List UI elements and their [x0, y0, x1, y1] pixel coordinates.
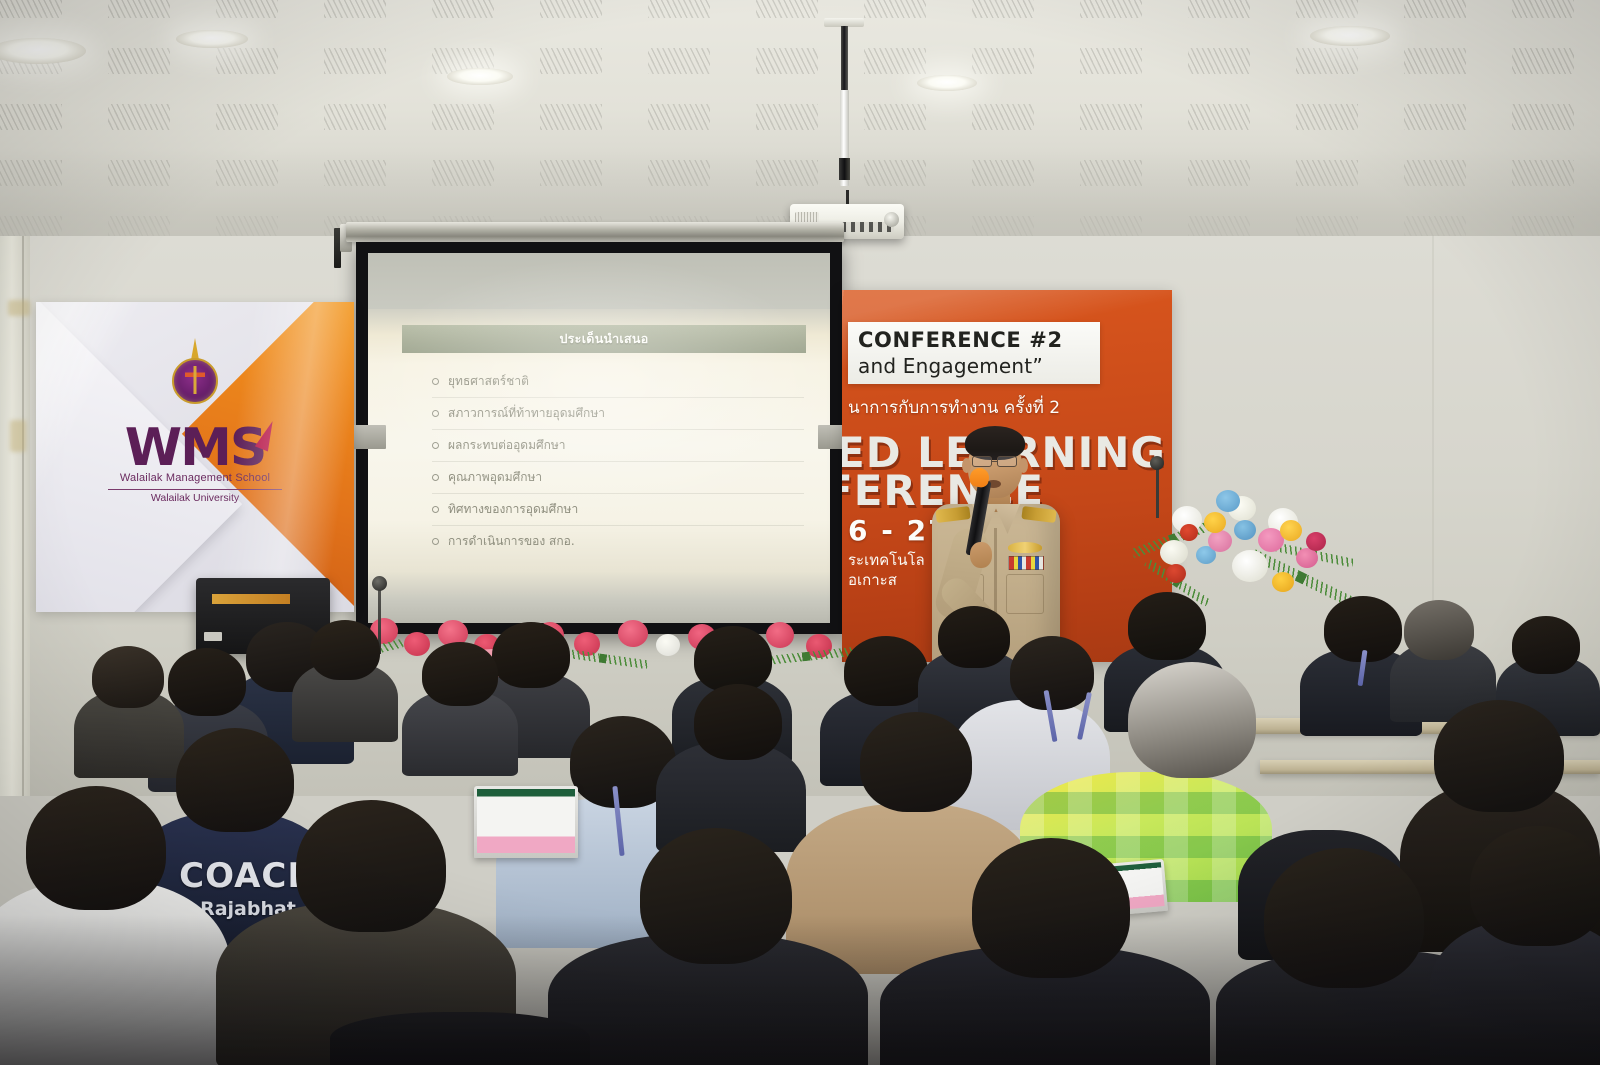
audience-head — [26, 786, 166, 910]
slide-bullet-text: สภาวการณ์ที่ท้าทายอุดมศึกษา — [448, 404, 605, 423]
monitor-logo — [204, 632, 222, 641]
audience-head — [844, 636, 928, 706]
slide-bullet-item: ผลกระทบต่ออุดมศึกษา — [432, 429, 804, 461]
flower-blue — [1234, 520, 1256, 540]
projector-lens-icon — [884, 212, 899, 227]
projection-screen: ประเด็นนำเสนอ ยุทธศาสตร์ชาติ สภาวการณ์ที… — [356, 242, 842, 634]
eyeglasses-icon — [997, 456, 1017, 467]
bullet-circle-icon — [432, 474, 439, 481]
flower-white — [656, 634, 680, 656]
banner-title-box: CONFERENCE #2 and Engagement” — [848, 322, 1100, 384]
speaker-pocket-right — [1006, 574, 1044, 614]
projector-mount-joint — [839, 158, 850, 180]
audience-head — [1470, 826, 1600, 946]
audience-head — [1512, 616, 1580, 674]
bullet-circle-icon — [432, 538, 439, 545]
slide-bullet-text: การดำเนินการของ สกอ. — [448, 532, 575, 551]
speaker-ear-right — [1019, 458, 1028, 473]
audience-head — [422, 642, 498, 706]
presentation-slide: ประเด็นนำเสนอ ยุทธศาสตร์ชาติ สภาวการณ์ที… — [390, 309, 820, 611]
wall-stain — [8, 300, 30, 316]
audience-head — [938, 606, 1010, 668]
wall-column-left — [0, 236, 30, 796]
audience-head — [640, 828, 792, 964]
audience-head — [1010, 636, 1094, 710]
flower-white — [1232, 550, 1268, 582]
audience-head — [694, 626, 772, 692]
wall-seam — [22, 236, 24, 796]
microphone-head-icon — [372, 576, 387, 591]
speaker-hair — [965, 426, 1025, 460]
flower-yellow — [1272, 572, 1294, 592]
flower-red — [1306, 532, 1326, 551]
monitor-reflection — [212, 594, 290, 604]
audience-head — [310, 620, 380, 680]
audience-head — [1264, 848, 1424, 988]
audience-head — [860, 712, 972, 812]
audience-head-gray-hair — [1128, 662, 1256, 778]
bullet-circle-icon — [432, 506, 439, 513]
audience-head — [168, 648, 246, 716]
ceiling-downlight — [917, 75, 977, 91]
bullet-circle-icon — [432, 442, 439, 449]
flower-rose — [766, 622, 794, 648]
flower-rose — [404, 632, 430, 656]
wall-seam — [1432, 236, 1434, 616]
wms-banner-sheen — [36, 302, 354, 612]
laptop-screen — [477, 789, 575, 853]
flower-red — [1180, 524, 1198, 541]
banner-thai-subtitle: นาการกับการทำงาน ครั้งที่ 2 — [848, 394, 1060, 421]
laptop — [474, 786, 578, 858]
slide-bullet-list: ยุทธศาสตร์ชาติ สภาวการณ์ที่ท้าทายอุดมศึก… — [390, 353, 820, 557]
audience-head — [296, 800, 446, 932]
ceiling-downlight — [176, 30, 248, 48]
slide-bullet-item: คุณภาพอุดมศึกษา — [432, 461, 804, 493]
slide-bullet-text: ยุทธศาสตร์ชาติ — [448, 372, 529, 391]
slide-title-bar: ประเด็นนำเสนอ — [402, 325, 806, 353]
banner-subheading: and Engagement” — [858, 354, 1043, 378]
flower-white — [1160, 540, 1188, 565]
screen-roller-housing — [346, 222, 844, 242]
audience-head — [1128, 592, 1206, 660]
flower-rose — [618, 620, 648, 647]
banner-heading: CONFERENCE #2 — [858, 328, 1063, 352]
bullet-circle-icon — [432, 410, 439, 417]
slide-bullet-item: ยุทธศาสตร์ชาติ — [432, 365, 804, 397]
audience-member — [330, 1012, 590, 1065]
audience-head — [92, 646, 164, 708]
projector-mount-rod-upper — [841, 26, 848, 92]
flower-pink — [1208, 530, 1232, 552]
speaker-wing-insignia-icon — [1008, 542, 1042, 553]
flower-pink — [1296, 548, 1318, 568]
slide-title: ประเด็นนำเสนอ — [559, 329, 648, 349]
speaker-hand — [970, 542, 992, 568]
eyeglasses-icon — [972, 456, 992, 467]
ceiling-downlight — [447, 68, 513, 85]
speaker-ear-left — [962, 458, 971, 473]
flower-red — [1166, 564, 1186, 583]
wms-banner: WMS Walailak Management School Walailak … — [36, 302, 354, 612]
conference-photo-scene: ประเด็นนำเสนอ ยุทธศาสตร์ชาติ สภาวการณ์ที… — [0, 0, 1600, 1065]
audience-head — [492, 622, 570, 688]
ceiling-downlight — [1310, 26, 1390, 46]
flower-blue — [1216, 490, 1240, 512]
audience-head — [1404, 600, 1474, 660]
speaker-ribbon-bar-icon — [1008, 556, 1044, 570]
slide-bullet-item: การดำเนินการของ สกอ. — [432, 525, 804, 557]
screen-upper-band — [368, 253, 830, 309]
slide-bullet-item: ทิศทางของการอุดมศึกษา — [432, 493, 804, 525]
audience-head — [694, 684, 782, 760]
slide-bullet-item: สภาวการณ์ที่ท้าทายอุดมศึกษา — [432, 397, 804, 429]
audience-head — [176, 728, 294, 832]
screen-surface: ประเด็นนำเสนอ ยุทธศาสตร์ชาติ สภาวการณ์ที… — [368, 253, 830, 623]
slide-bullet-text: ทิศทางของการอุดมศึกษา — [448, 500, 578, 519]
audience-head — [1434, 700, 1564, 812]
wall-stain — [10, 420, 26, 452]
audience-head — [972, 838, 1130, 978]
eyeglasses-bridge-icon — [992, 461, 997, 462]
flower-yellow — [1280, 520, 1302, 541]
flower-yellow — [1204, 512, 1226, 533]
floral-arrangement-front — [328, 598, 888, 682]
banner-venue-line-2: อเกาะส — [848, 568, 897, 592]
bullet-circle-icon — [432, 378, 439, 385]
slide-bullet-text: ผลกระทบต่ออุดมศึกษา — [448, 436, 566, 455]
slide-bullet-text: คุณภาพอุดมศึกษา — [448, 468, 542, 487]
palm-frond-icon — [558, 648, 648, 669]
